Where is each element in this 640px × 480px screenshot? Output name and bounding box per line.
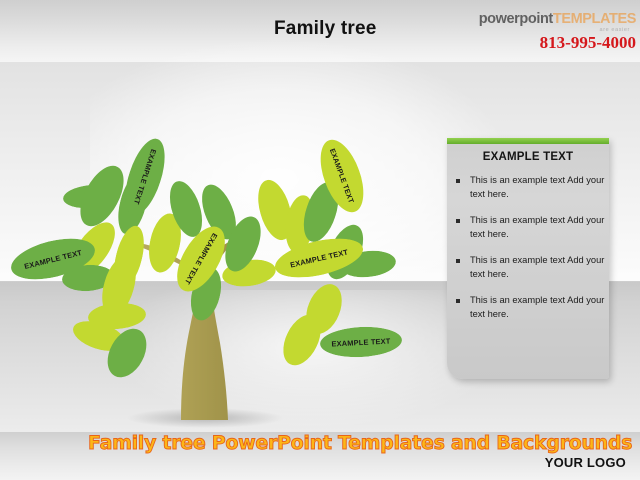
footer-title: Family tree PowerPoint Templates and Bac…: [88, 432, 558, 454]
brand-phone-number: 813-995-4000: [446, 34, 636, 51]
brand-powerpoint-text: powerpoint: [479, 11, 553, 27]
brand-wordmark: powerpointTEMPLATES: [446, 12, 636, 27]
slide-canvas: Family tree powerpointTEMPLATES are easi…: [0, 0, 640, 480]
your-logo-placeholder: YOUR LOGO: [545, 455, 626, 470]
panel-accent-bar: [447, 138, 609, 144]
panel-title: EXAMPLE TEXT: [447, 151, 609, 163]
bullet-square-icon: [456, 179, 460, 183]
family-tree-graphic: EXAMPLE TEXTEXAMPLE TEXTEXAMPLE TEXTEXAM…: [0, 55, 440, 440]
bullet-square-icon: [456, 299, 460, 303]
list-item: This is an example text Add your text he…: [456, 174, 606, 201]
list-item: This is an example text Add your text he…: [456, 254, 606, 281]
bullet-text: This is an example text Add your text he…: [470, 174, 606, 201]
brand-logo: powerpointTEMPLATES are easier 813-995-4…: [446, 12, 636, 52]
bullet-text: This is an example text Add your text he…: [470, 294, 606, 321]
bullet-square-icon: [456, 259, 460, 263]
list-item: This is an example text Add your text he…: [456, 294, 606, 321]
panel-bullet-list: This is an example text Add your text he…: [456, 174, 606, 334]
leaf-shape: [319, 325, 402, 359]
brand-templates-text: TEMPLATES: [553, 11, 636, 27]
example-text-panel: EXAMPLE TEXT This is an example text Add…: [447, 138, 609, 379]
bullet-square-icon: [456, 219, 460, 223]
bullet-text: This is an example text Add your text he…: [470, 214, 606, 241]
bullet-text: This is an example text Add your text he…: [470, 254, 606, 281]
page-title: Family tree: [274, 18, 377, 40]
list-item: This is an example text Add your text he…: [456, 214, 606, 241]
tree-leaf-labeled[interactable]: EXAMPLE TEXT: [319, 325, 402, 359]
